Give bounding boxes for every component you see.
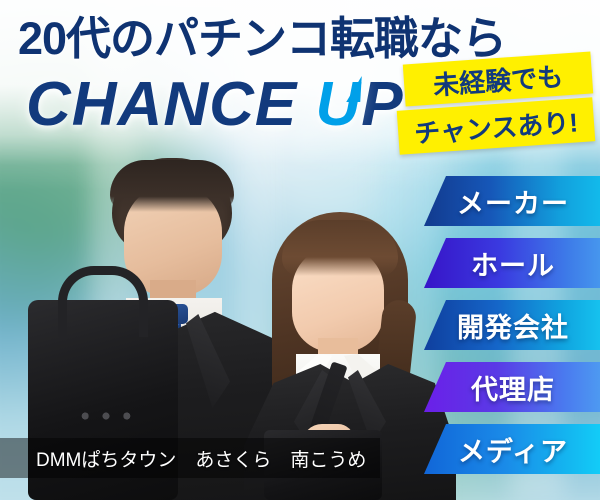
category-label-developer: 開発会社	[457, 306, 569, 345]
caption-bar: DMMぱちタウン あさくら 南こうめ	[0, 438, 380, 478]
category-button-maker[interactable]: メーカー	[424, 176, 600, 226]
category-button-developer[interactable]: 開発会社	[424, 300, 600, 350]
chance-up-logo: CHANCE UP	[26, 74, 404, 136]
category-label-hall: ホール	[471, 244, 555, 283]
category-button-hall[interactable]: ホール	[424, 238, 600, 288]
category-button-media[interactable]: メディア	[424, 424, 600, 474]
caption-text: DMMぱちタウン あさくら 南こうめ	[36, 445, 366, 472]
category-label-media: メディア	[458, 430, 568, 469]
logo-chance-text: CHANCE	[26, 70, 315, 139]
category-label-agency: 代理店	[471, 368, 555, 407]
headline-text: 20代のパチンコ転職なら	[18, 16, 506, 61]
banner-root: 20代のパチンコ転職なら CHANCE UP 未経験でも チャンスあり! メーカ…	[0, 0, 600, 500]
category-button-agency[interactable]: 代理店	[424, 362, 600, 412]
logo-u-arrow: U	[315, 74, 361, 136]
category-label-maker: メーカー	[457, 182, 569, 221]
